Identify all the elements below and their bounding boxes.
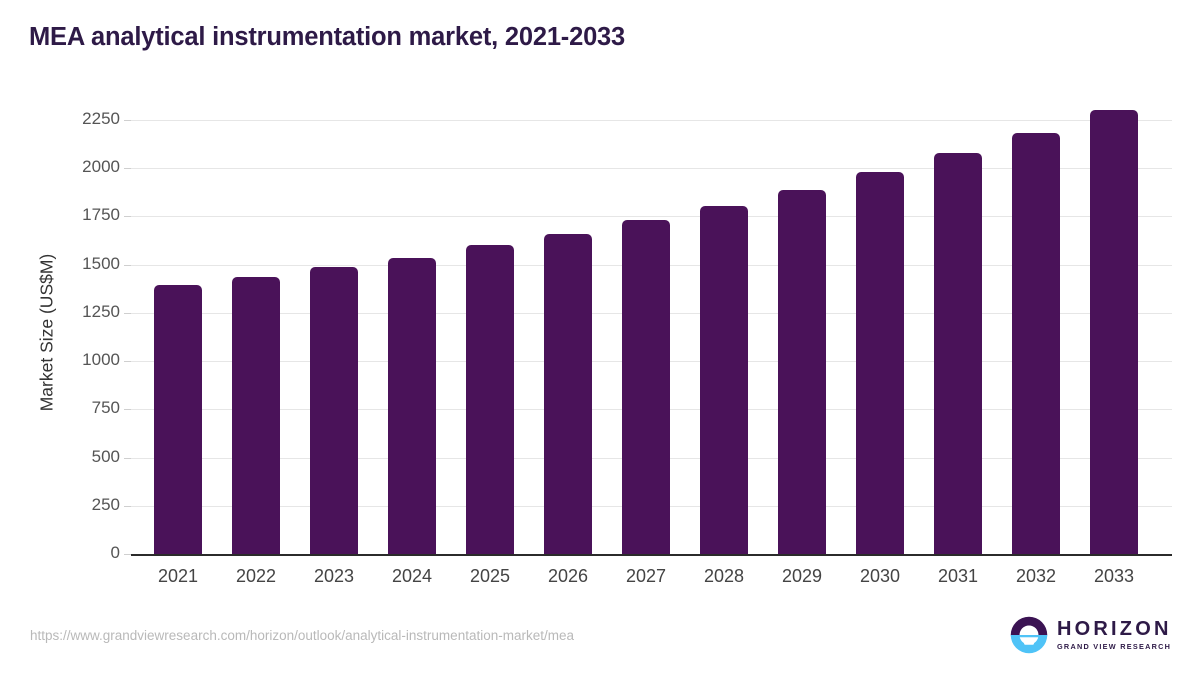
y-axis-tick-label: 500 xyxy=(0,447,120,467)
y-axis-tick-mark xyxy=(124,409,131,410)
gridline xyxy=(131,120,1172,121)
y-axis-tick-label: 1250 xyxy=(0,302,120,322)
brand-text: HORIZON GRAND VIEW RESEARCH xyxy=(1057,619,1172,650)
y-axis-tick-label: 2250 xyxy=(0,109,120,129)
bar[interactable] xyxy=(232,277,280,554)
y-axis-tick-mark xyxy=(124,458,131,459)
bar[interactable] xyxy=(700,206,748,554)
y-axis-tick-label: 1750 xyxy=(0,205,120,225)
bar[interactable] xyxy=(934,153,982,554)
x-axis-tick-label: 2033 xyxy=(1059,566,1169,587)
y-axis-title: Market Size (US$M) xyxy=(37,233,58,433)
y-axis-tick-label: 750 xyxy=(0,398,120,418)
y-axis-tick-label: 1000 xyxy=(0,350,120,370)
y-axis-tick-mark xyxy=(124,168,131,169)
bar[interactable] xyxy=(154,285,202,554)
bar[interactable] xyxy=(466,245,514,554)
brand-tagline: GRAND VIEW RESEARCH xyxy=(1057,643,1172,650)
source-url[interactable]: https://www.grandviewresearch.com/horizo… xyxy=(30,628,574,643)
bar[interactable] xyxy=(856,172,904,554)
bar[interactable] xyxy=(778,190,826,554)
y-axis-tick-mark xyxy=(124,361,131,362)
bar[interactable] xyxy=(1012,133,1060,554)
bar[interactable] xyxy=(544,234,592,554)
bar[interactable] xyxy=(1090,110,1138,554)
y-axis-tick-mark xyxy=(124,313,131,314)
chart-card: MEA analytical instrumentation market, 2… xyxy=(0,0,1200,675)
y-axis-tick-mark xyxy=(124,265,131,266)
y-axis-tick-mark xyxy=(124,506,131,507)
bar[interactable] xyxy=(388,258,436,554)
y-axis-tick-label: 1500 xyxy=(0,254,120,274)
y-axis-tick-mark xyxy=(124,554,131,555)
brand-name: HORIZON xyxy=(1057,619,1172,639)
brand-logo[interactable]: HORIZON GRAND VIEW RESEARCH xyxy=(1010,616,1172,654)
y-axis-tick-label: 2000 xyxy=(0,157,120,177)
bar[interactable] xyxy=(622,220,670,554)
y-axis-tick-label: 250 xyxy=(0,495,120,515)
horizon-sun-circle-icon xyxy=(1010,616,1048,654)
y-axis-tick-mark xyxy=(124,216,131,217)
bar[interactable] xyxy=(310,267,358,554)
y-axis-tick-label: 0 xyxy=(0,543,120,563)
y-axis-tick-mark xyxy=(124,120,131,121)
x-axis-line xyxy=(131,554,1172,556)
bar-chart-plot-area: 2250200017501500125010007505002500 20212… xyxy=(0,0,1200,675)
